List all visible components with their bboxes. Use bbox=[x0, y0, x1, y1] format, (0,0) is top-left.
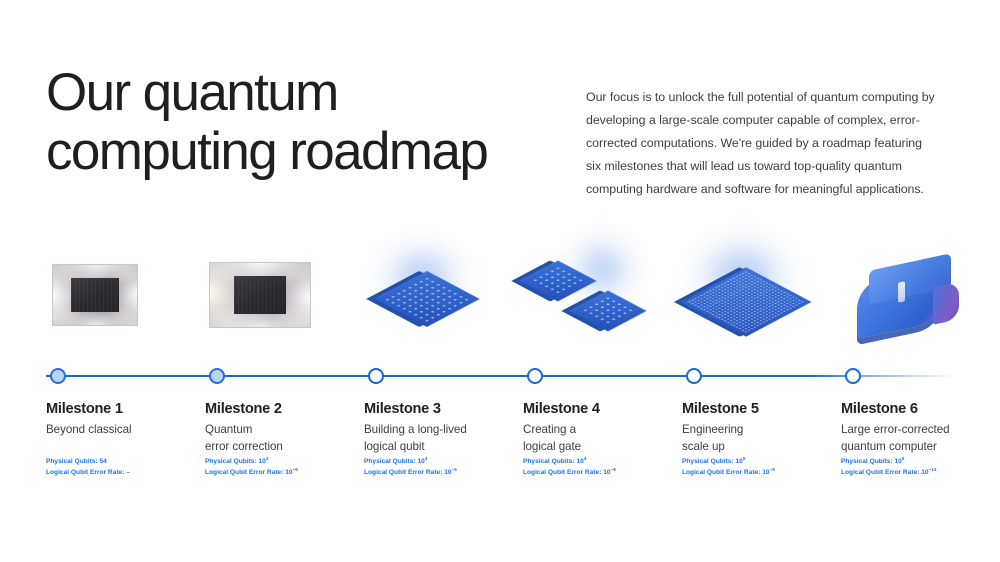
milestone-6-physical-qubits-exponent: 6 bbox=[902, 456, 905, 461]
error-rate-label: Logical Qubit Error Rate: bbox=[205, 469, 283, 476]
timeline-dot-4[interactable] bbox=[527, 368, 543, 384]
timeline-dot-2[interactable] bbox=[209, 368, 225, 384]
intro-paragraph: Our focus is to unlock the full potentia… bbox=[586, 86, 938, 201]
milestone-6-error-rate-exponent: −13 bbox=[929, 466, 937, 471]
milestone-4-description: Creating a logical gate bbox=[523, 422, 673, 456]
milestone-6-specs: Physical Qubits: 106 Logical Qubit Error… bbox=[841, 457, 1000, 478]
milestone-4-desc-line-2: logical gate bbox=[523, 439, 673, 456]
milestone-3-desc-line-1: Building a long-lived bbox=[364, 422, 514, 439]
milestone-3-error-rate: Logical Qubit Error Rate: 10−6 bbox=[364, 468, 524, 479]
milestone-1-desc-line-1: Beyond classical bbox=[46, 423, 132, 436]
milestone-3-illustration bbox=[364, 236, 514, 356]
physical-qubits-label: Physical Qubits: bbox=[46, 458, 98, 465]
milestone-item-3[interactable]: Milestone 3 Building a long-lived logica… bbox=[364, 236, 524, 496]
roadmap-page: Our quantum computing roadmap Our focus … bbox=[0, 0, 1000, 562]
milestone-1-physical-qubits-value: 54 bbox=[100, 458, 107, 465]
milestone-5-error-rate-value: 10 bbox=[762, 469, 769, 476]
milestone-3-error-rate-value: 10 bbox=[444, 469, 451, 476]
milestone-5-physical-qubits: Physical Qubits: 105 bbox=[682, 457, 842, 468]
milestone-item-5[interactable]: Milestone 5 Engineering scale up Physica… bbox=[682, 236, 842, 496]
milestone-5-specs: Physical Qubits: 105 Logical Qubit Error… bbox=[682, 457, 842, 478]
milestone-2-description: Quantum error correction bbox=[205, 422, 355, 456]
milestone-2-error-rate: Logical Qubit Error Rate: 10−6 bbox=[205, 468, 365, 479]
error-rate-label: Logical Qubit Error Rate: bbox=[364, 469, 442, 476]
milestone-4-error-rate: Logical Qubit Error Rate: 10−8 bbox=[523, 468, 683, 479]
milestone-6-error-rate-value: 10 bbox=[921, 469, 928, 476]
error-rate-label: Logical Qubit Error Rate: bbox=[523, 469, 601, 476]
milestone-4-specs: Physical Qubits: 104 Logical Qubit Error… bbox=[523, 457, 683, 478]
page-title: Our quantum computing roadmap bbox=[46, 63, 576, 182]
milestone-4-illustration bbox=[523, 236, 673, 356]
qubit-array-slab bbox=[570, 291, 646, 331]
glow-effect bbox=[569, 236, 635, 302]
milestone-list: Milestone 1 Beyond classical Physical Qu… bbox=[46, 236, 1000, 496]
milestone-1-title: Milestone 1 bbox=[46, 401, 123, 417]
quantum-chip-icon bbox=[209, 262, 311, 328]
physical-qubits-label: Physical Qubits: bbox=[364, 458, 416, 465]
milestone-4-physical-qubits: Physical Qubits: 104 bbox=[523, 457, 683, 468]
milestone-5-desc-line-1: Engineering bbox=[682, 422, 832, 439]
quantum-chip-icon bbox=[52, 264, 138, 326]
milestone-5-desc-line-2: scale up bbox=[682, 439, 832, 456]
milestone-2-physical-qubits-exponent: 3 bbox=[266, 456, 269, 461]
milestone-item-2[interactable]: Milestone 2 Quantum error correction Phy… bbox=[205, 236, 365, 496]
milestone-5-illustration bbox=[682, 236, 832, 356]
milestone-2-error-rate-exponent: −6 bbox=[293, 466, 298, 471]
milestone-item-4[interactable]: Milestone 4 Creating a logical gate Phys… bbox=[523, 236, 683, 496]
milestone-3-desc-line-2: logical qubit bbox=[364, 439, 514, 456]
milestone-6-error-rate: Logical Qubit Error Rate: 10−13 bbox=[841, 468, 1000, 479]
milestone-2-physical-qubits: Physical Qubits: 103 bbox=[205, 457, 365, 468]
timeline-dot-1[interactable] bbox=[50, 368, 66, 384]
physical-qubits-label: Physical Qubits: bbox=[682, 458, 734, 465]
milestone-2-physical-qubits-value: 10 bbox=[259, 458, 266, 465]
chip-die bbox=[71, 278, 119, 312]
quantum-computer-module-icon bbox=[849, 254, 969, 346]
error-rate-label: Logical Qubit Error Rate: bbox=[682, 469, 760, 476]
chip-die bbox=[234, 276, 286, 314]
error-rate-label: Logical Qubit Error Rate: bbox=[46, 469, 124, 476]
milestone-item-6[interactable]: Milestone 6 Large error-corrected quantu… bbox=[841, 236, 1000, 496]
page-title-line-1: Our quantum bbox=[46, 63, 338, 122]
milestone-1-error-rate: Logical Qubit Error Rate: – bbox=[46, 468, 206, 479]
milestone-3-physical-qubits: Physical Qubits: 104 bbox=[364, 457, 524, 468]
page-title-line-2: computing roadmap bbox=[46, 122, 576, 181]
timeline-dot-5[interactable] bbox=[686, 368, 702, 384]
milestone-6-illustration bbox=[841, 236, 991, 356]
timeline-dot-3[interactable] bbox=[368, 368, 384, 384]
milestone-strip: Milestone 1 Beyond classical Physical Qu… bbox=[0, 236, 1000, 496]
milestone-1-error-rate-value: – bbox=[126, 469, 130, 476]
module-notch bbox=[898, 281, 905, 302]
physical-qubits-label: Physical Qubits: bbox=[523, 458, 575, 465]
milestone-2-desc-line-1: Quantum bbox=[205, 422, 355, 439]
milestone-5-physical-qubits-value: 10 bbox=[736, 458, 743, 465]
physical-qubits-label: Physical Qubits: bbox=[205, 458, 257, 465]
milestone-3-physical-qubits-exponent: 4 bbox=[425, 456, 428, 461]
milestone-5-error-rate-exponent: −9 bbox=[770, 466, 775, 471]
milestone-1-physical-qubits: Physical Qubits: 54 bbox=[46, 457, 206, 468]
milestone-6-desc-line-1: Large error-corrected bbox=[841, 422, 991, 439]
milestone-4-error-rate-exponent: −8 bbox=[611, 466, 616, 471]
milestone-3-error-rate-exponent: −6 bbox=[452, 466, 457, 471]
milestone-4-error-rate-value: 10 bbox=[603, 469, 610, 476]
milestone-2-title: Milestone 2 bbox=[205, 401, 282, 417]
milestone-2-illustration bbox=[205, 236, 355, 356]
page-header: Our quantum computing roadmap Our focus … bbox=[0, 0, 1000, 220]
milestone-3-title: Milestone 3 bbox=[364, 401, 441, 417]
milestone-4-title: Milestone 4 bbox=[523, 401, 600, 417]
physical-qubits-label: Physical Qubits: bbox=[841, 458, 893, 465]
milestone-2-specs: Physical Qubits: 103 Logical Qubit Error… bbox=[205, 457, 365, 478]
milestone-item-1[interactable]: Milestone 1 Beyond classical Physical Qu… bbox=[46, 236, 206, 496]
milestone-1-description: Beyond classical bbox=[46, 422, 196, 439]
milestone-3-physical-qubits-value: 10 bbox=[418, 458, 425, 465]
milestone-6-title: Milestone 6 bbox=[841, 401, 918, 417]
milestone-3-description: Building a long-lived logical qubit bbox=[364, 422, 514, 456]
milestone-2-desc-line-2: error correction bbox=[205, 439, 355, 456]
milestone-2-error-rate-value: 10 bbox=[285, 469, 292, 476]
milestone-1-illustration bbox=[46, 236, 196, 356]
milestone-5-physical-qubits-exponent: 5 bbox=[743, 456, 746, 461]
milestone-6-physical-qubits-value: 10 bbox=[895, 458, 902, 465]
milestone-4-physical-qubits-value: 10 bbox=[577, 458, 584, 465]
milestone-4-physical-qubits-exponent: 4 bbox=[584, 456, 587, 461]
milestone-1-specs: Physical Qubits: 54 Logical Qubit Error … bbox=[46, 457, 206, 478]
milestone-5-title: Milestone 5 bbox=[682, 401, 759, 417]
milestone-6-physical-qubits: Physical Qubits: 106 bbox=[841, 457, 1000, 468]
milestone-6-desc-line-2: quantum computer bbox=[841, 439, 991, 456]
timeline-dot-6[interactable] bbox=[845, 368, 861, 384]
error-rate-label: Logical Qubit Error Rate: bbox=[841, 469, 919, 476]
milestone-5-error-rate: Logical Qubit Error Rate: 10−9 bbox=[682, 468, 842, 479]
milestone-5-description: Engineering scale up bbox=[682, 422, 832, 456]
module-side bbox=[933, 281, 959, 325]
milestone-6-description: Large error-corrected quantum computer bbox=[841, 422, 991, 456]
milestone-3-specs: Physical Qubits: 104 Logical Qubit Error… bbox=[364, 457, 524, 478]
milestone-4-desc-line-1: Creating a bbox=[523, 422, 673, 439]
